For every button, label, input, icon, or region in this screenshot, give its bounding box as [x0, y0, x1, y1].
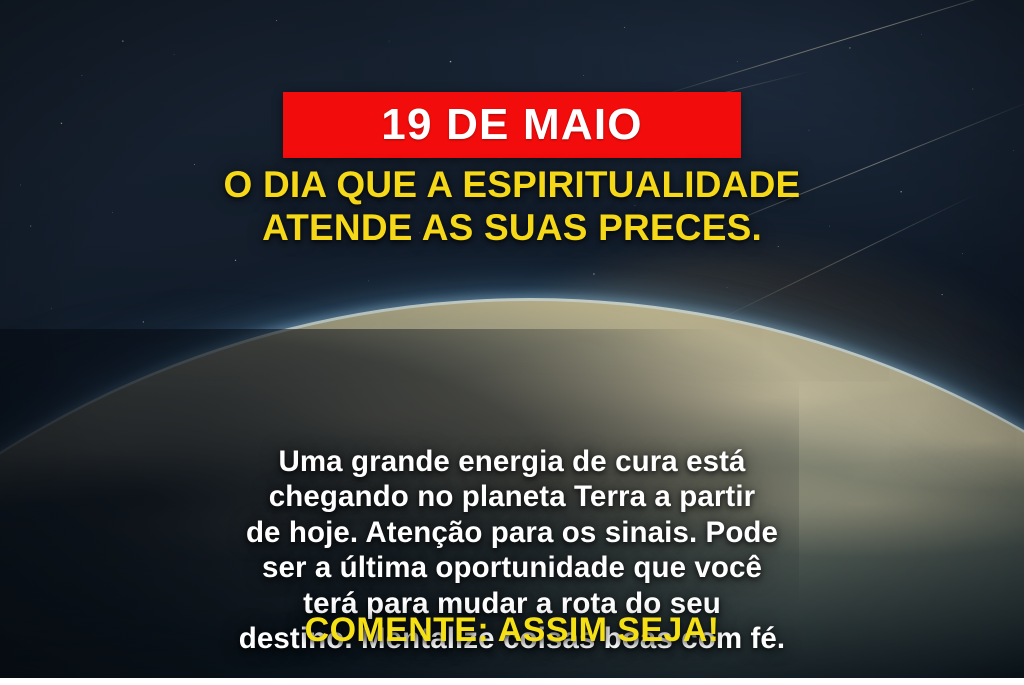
- body-line-2: chegando no planeta Terra a partir: [52, 479, 972, 514]
- date-banner-text: 19 DE MAIO: [381, 103, 642, 147]
- bottom-strip: [0, 678, 1024, 685]
- poster-content: 19 DE MAIO O DIA QUE A ESPIRITUALIDADE A…: [0, 0, 1024, 685]
- call-to-action-text: COMENTE: ASSIM SEJA!: [0, 612, 1024, 649]
- headline-line-1: O DIA QUE A ESPIRITUALIDADE: [48, 164, 976, 207]
- body-line-1: Uma grande energia de cura está: [52, 444, 972, 479]
- poster: 19 DE MAIO O DIA QUE A ESPIRITUALIDADE A…: [0, 0, 1024, 685]
- headline: O DIA QUE A ESPIRITUALIDADE ATENDE AS SU…: [0, 164, 1024, 250]
- date-banner: 19 DE MAIO: [283, 92, 741, 158]
- body-line-4: ser a última oportunidade que você: [52, 550, 972, 585]
- headline-line-2: ATENDE AS SUAS PRECES.: [48, 207, 976, 250]
- body-line-3: de hoje. Atenção para os sinais. Pode: [52, 515, 972, 550]
